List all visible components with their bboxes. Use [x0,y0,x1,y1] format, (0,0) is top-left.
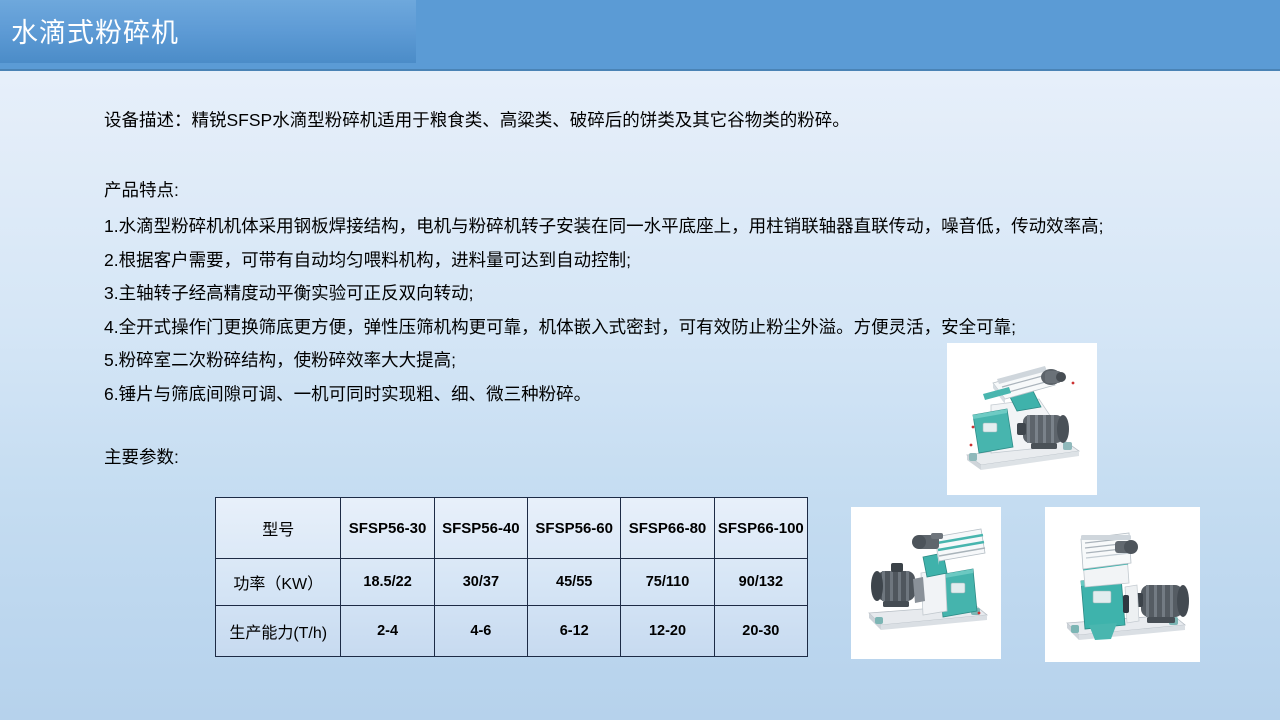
table-cell: 2-4 [341,606,434,657]
slide-canvas: 水滴式粉碎机 设备描述：精锐SFSP水滴型粉碎机适用于粮食类、高粱类、破碎后的饼… [0,0,1280,720]
table-cell: 90/132 [714,559,807,606]
table-cell: 75/110 [621,559,714,606]
table-header-row: 型号 SFSP56-30 SFSP56-40 SFSP56-60 SFSP66-… [216,498,808,559]
list-item: 4.全开式操作门更换筛底更方便，弹性压筛机构更可靠，机体嵌入式密封，可有效防止粉… [104,311,1103,345]
table-cell: 18.5/22 [341,559,434,606]
table-cell: 45/55 [528,559,621,606]
hammer-mill-photo-1 [947,343,1097,495]
table-row: 生产能力(T/h) 2-4 4-6 6-12 12-20 20-30 [216,606,808,657]
features-heading: 产品特点: [104,178,179,202]
table-cell: 6-12 [528,606,621,657]
list-item: 1.水滴型粉碎机机体采用钢板焊接结构，电机与粉碎机转子安装在同一水平底座上，用柱… [104,210,1103,244]
equipment-description: 设备描述：精锐SFSP水滴型粉碎机适用于粮食类、高粱类、破碎后的饼类及其它谷物类… [104,108,850,132]
table-header-cell: SFSP56-40 [434,498,527,559]
table-header-cell: SFSP56-60 [528,498,621,559]
table-row-label: 功率（KW） [216,559,341,606]
hammer-mill-photo-2 [851,507,1001,659]
slide-header-bar: 水滴式粉碎机 [0,0,1280,71]
table-row-label: 生产能力(T/h) [216,606,341,657]
table-header-cell-model: 型号 [216,498,341,559]
parameters-table: 型号 SFSP56-30 SFSP56-40 SFSP56-60 SFSP66-… [215,497,808,657]
page-title: 水滴式粉碎机 [11,17,179,49]
list-item: 2.根据客户需要，可带有自动均匀喂料机构，进料量可达到自动控制; [104,244,1103,278]
table-row: 功率（KW） 18.5/22 30/37 45/55 75/110 90/132 [216,559,808,606]
table-cell: 4-6 [434,606,527,657]
parameters-heading: 主要参数: [104,445,179,469]
table-cell: 30/37 [434,559,527,606]
table-header-cell: SFSP66-100 [714,498,807,559]
list-item: 3.主轴转子经高精度动平衡实验可正反双向转动; [104,277,1103,311]
table-header-cell: SFSP56-30 [341,498,434,559]
hammer-mill-photo-3 [1045,507,1200,662]
table-cell: 20-30 [714,606,807,657]
table-header-cell: SFSP66-80 [621,498,714,559]
table-cell: 12-20 [621,606,714,657]
